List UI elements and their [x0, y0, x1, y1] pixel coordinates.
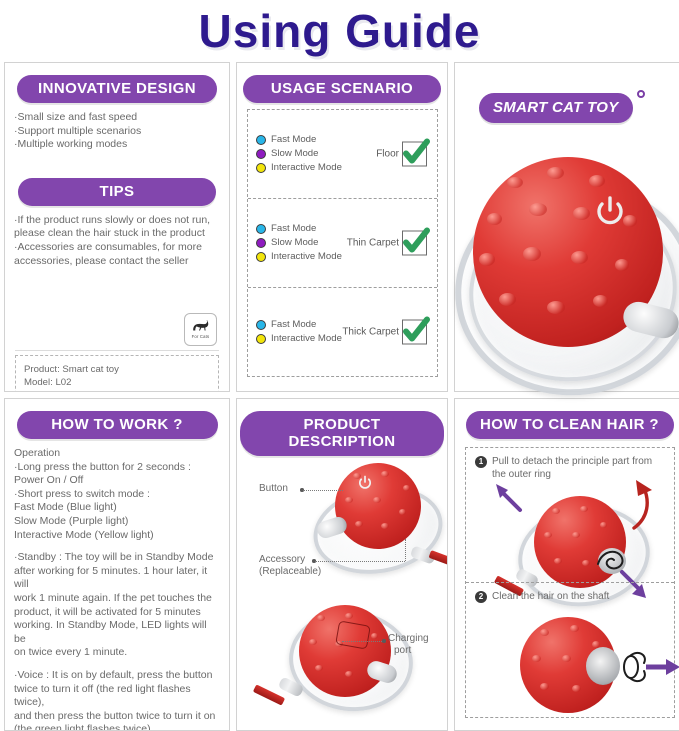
step2-bump	[570, 625, 579, 632]
interactive-mode-dot-icon	[256, 252, 266, 262]
tip-line-2: please clean the hair stuck in the produ…	[14, 227, 220, 241]
voice-line-4: (the green light flashes twice)	[14, 723, 220, 731]
callout-button: Button	[259, 483, 288, 495]
interactive-mode-dot-icon	[256, 334, 266, 344]
panel-innovative-design: INNOVATIVE DESIGN ·Small size and fast s…	[4, 62, 230, 392]
scenario-modes-thin-carpet: Fast Mode Slow Mode Interactive Mode	[256, 222, 342, 264]
spec-material: Material: PC, ABS, Silica gel	[24, 389, 210, 392]
step-number-1: 1	[475, 456, 487, 468]
callout-accessory-line1: Accessory	[259, 554, 305, 566]
mode-label: Interactive Mode	[271, 332, 342, 346]
arrow-curve-right-icon	[624, 476, 664, 539]
specification-box: Product: Smart cat toy Model: L02 Materi…	[15, 355, 219, 392]
callout-charging-leader	[342, 641, 382, 642]
diagram2-bump	[371, 633, 378, 639]
callout-accessory-leader	[315, 561, 405, 562]
diagram-ball	[335, 463, 421, 549]
callout-charging-dot	[382, 639, 386, 643]
scenario-label: Floor	[376, 149, 399, 160]
heading-tips: TIPS	[18, 178, 216, 206]
check-icon	[401, 316, 431, 346]
operation-line-2: ·Long press the button for 2 seconds :	[14, 461, 220, 475]
diagram2-bump	[317, 615, 325, 621]
checkbox-thick-carpet	[402, 320, 427, 345]
operation-line-5: Fast Mode (Blue light)	[14, 501, 220, 515]
diagram2-bump	[309, 639, 317, 645]
diagram2-ball	[299, 605, 391, 697]
panel-product-hero: SMART CAT TOY	[454, 62, 679, 392]
diagram-bump	[373, 497, 381, 503]
check-icon	[401, 227, 431, 257]
mode-fast: Fast Mode	[256, 318, 342, 332]
step2-bump	[540, 629, 549, 636]
bullet-multiple-scenarios: ·Support multiple scenarios	[14, 125, 220, 139]
step1-bump	[600, 522, 607, 528]
for-cats-badge: For Cats	[184, 313, 217, 346]
mode-fast: Fast Mode	[256, 222, 342, 236]
heading-usage-scenario: USAGE SCENARIO	[243, 75, 441, 103]
title-bar: Using Guide	[0, 0, 679, 62]
panel-how-to-work: HOW TO WORK ? Operation ·Long press the …	[4, 398, 230, 731]
callout-accessory-leader-v	[405, 539, 406, 561]
clean-step-2-diagram	[514, 615, 674, 715]
operation-line-3: Power On / Off	[14, 474, 220, 488]
scenario-row-floor: Fast Mode Slow Mode Interactive Mode Flo…	[248, 110, 437, 198]
for-cats-caption: For Cats	[192, 334, 210, 339]
tips-bullets: ·If the product runs slowly or does not …	[5, 214, 229, 268]
cat-icon	[191, 320, 211, 334]
step1-bump	[572, 532, 580, 538]
hero-bump	[479, 253, 495, 266]
mode-label: Interactive Mode	[271, 161, 342, 175]
diagram-power-button-icon	[357, 475, 373, 496]
check-icon	[401, 138, 431, 168]
power-button-icon[interactable]	[593, 195, 627, 234]
step1-bump	[580, 506, 588, 512]
slow-mode-dot-icon	[256, 238, 266, 248]
hero-bump	[573, 207, 590, 220]
scenario-label: Thin Carpet	[347, 238, 399, 249]
hero-bump	[507, 177, 523, 188]
bullet-working-modes: ·Multiple working modes	[14, 138, 220, 152]
scenario-row-thin-carpet: Fast Mode Slow Mode Interactive Mode Thi…	[248, 198, 437, 287]
standby-line-3: work 1 minute again. If the pet touches …	[14, 592, 220, 606]
diagram2-bump	[315, 665, 323, 671]
clean-step-2-head: 2 Clean the hair on the shaft	[475, 590, 665, 603]
standby-line-6: on twice every 1 minute.	[14, 646, 220, 660]
callout-accessory-line2: (Replaceable)	[259, 566, 321, 578]
mode-label: Slow Mode	[271, 147, 318, 161]
mode-slow: Slow Mode	[256, 236, 342, 250]
step-1-line1: Pull to detach the principle part from	[492, 456, 652, 467]
mode-label: Fast Mode	[271, 222, 316, 236]
step2-bump	[532, 655, 541, 662]
voice-line-2: twice to turn it off (the red light flas…	[14, 683, 220, 710]
diagram2-bump	[345, 613, 353, 619]
hero-bump	[593, 295, 608, 307]
scenario-row-thick-carpet: Fast Mode Interactive Mode Thick Carpet	[248, 287, 437, 376]
step-2-text: Clean the hair on the shaft	[492, 590, 609, 603]
clean-hair-steps: 1 Pull to detach the principle part from…	[465, 447, 675, 718]
diagram-accessory-stick	[429, 550, 448, 568]
mode-label: Fast Mode	[271, 133, 316, 147]
mode-interactive: Interactive Mode	[256, 250, 342, 264]
hero-product-image	[447, 155, 679, 393]
fast-mode-dot-icon	[256, 224, 266, 234]
step2-bump	[562, 655, 571, 662]
step2-bump	[540, 683, 549, 690]
arrow-right-icon	[646, 657, 679, 682]
tip-line-3: ·Accessories are consumables, for more	[14, 241, 220, 255]
heading-how-to-clean-hair: HOW TO CLEAN HAIR ?	[466, 411, 674, 439]
standby-line-5: working. In Standby Mode, LED lights wil…	[14, 619, 220, 646]
arrow-up-left-icon	[490, 480, 524, 519]
fast-mode-dot-icon	[256, 320, 266, 330]
hero-bump	[523, 247, 541, 261]
clean-step-2: 2 Clean the hair on the shaft	[466, 582, 674, 717]
mode-interactive: Interactive Mode	[256, 161, 342, 175]
step2-bump	[572, 685, 581, 692]
mode-label: Fast Mode	[271, 318, 316, 332]
mode-label: Slow Mode	[271, 236, 318, 250]
diagram-bump	[355, 521, 363, 527]
hero-bump	[499, 293, 516, 306]
standby-line-4: product, it will be activated for 5 minu…	[14, 606, 220, 620]
innovative-design-bullets: ·Small size and fast speed ·Support mult…	[5, 111, 229, 152]
panel-how-to-clean-hair: HOW TO CLEAN HAIR ? 1 Pull to detach the…	[454, 398, 679, 731]
operation-line-7: Interactive Mode (Yellow light)	[14, 529, 220, 543]
tip-line-1: ·If the product runs slowly or does not …	[14, 214, 220, 228]
callout-charging-line1: Charging	[388, 633, 429, 645]
voice-line-1: ·Voice : It is on by default, press the …	[14, 669, 220, 683]
scenario-result-floor: Floor	[376, 142, 427, 167]
how-to-work-standby: ·Standby : The toy will be in Standby Mo…	[5, 551, 229, 660]
panel-product-description: PRODUCT DESCRIPTION	[236, 398, 448, 731]
operation-line-6: Slow Mode (Purple light)	[14, 515, 220, 529]
scenario-modes-thick-carpet: Fast Mode Interactive Mode	[256, 318, 342, 346]
step1-bump	[552, 508, 560, 514]
checkbox-thin-carpet	[402, 231, 427, 256]
hero-bump	[547, 167, 564, 179]
using-guide-page: Using Guide INNOVATIVE DESIGN ·Small siz…	[0, 0, 679, 729]
diagram-bump	[345, 497, 353, 503]
scenario-result-thick-carpet: Thick Carpet	[342, 320, 427, 345]
operation-line-1: Operation	[14, 447, 220, 461]
hair-swirl-icon	[592, 542, 632, 587]
hero-bump	[529, 203, 547, 216]
fast-mode-dot-icon	[256, 135, 266, 145]
diagram2-bump	[345, 671, 353, 677]
standby-line-2: after working for 5 minutes. 1 hour late…	[14, 565, 220, 592]
callout-charging-line2: port	[394, 645, 411, 657]
heading-innovative-design: INNOVATIVE DESIGN	[17, 75, 217, 103]
panel-grid: INNOVATIVE DESIGN ·Small size and fast s…	[4, 62, 675, 731]
scenario-modes-floor: Fast Mode Slow Mode Interactive Mode	[256, 133, 342, 175]
clean-step-1: 1 Pull to detach the principle part from…	[466, 448, 674, 582]
hero-bump	[487, 213, 502, 225]
bullet-small-size: ·Small size and fast speed	[14, 111, 220, 125]
how-to-work-operation: Operation ·Long press the button for 2 s…	[5, 447, 229, 542]
how-to-work-voice: ·Voice : It is on by default, press the …	[5, 669, 229, 731]
callout-button-leader	[303, 490, 343, 491]
mode-fast: Fast Mode	[256, 133, 342, 147]
mode-label: Interactive Mode	[271, 250, 342, 264]
diagram-bump	[381, 523, 389, 529]
scenario-result-thin-carpet: Thin Carpet	[347, 231, 427, 256]
degree-circle-icon	[637, 90, 645, 98]
slow-mode-dot-icon	[256, 149, 266, 159]
hero-bump	[571, 251, 588, 264]
spec-model: Model: L02	[24, 376, 210, 389]
diagram-bump	[381, 471, 389, 477]
hero-bump	[547, 301, 565, 314]
step-1-line2: the outer ring	[492, 469, 551, 480]
page-title: Using Guide	[199, 8, 481, 54]
heading-product-description: PRODUCT DESCRIPTION	[240, 411, 444, 456]
step1-bump	[544, 532, 552, 538]
panel-usage-scenario: USAGE SCENARIO Fast Mode Slow Mode	[236, 62, 448, 392]
spec-divider	[15, 350, 219, 351]
diagram-bump	[399, 509, 406, 515]
interactive-mode-dot-icon	[256, 163, 266, 173]
step-number-2: 2	[475, 591, 487, 603]
mode-slow: Slow Mode	[256, 147, 342, 161]
checkbox-floor	[402, 142, 427, 167]
diagram-bump	[403, 485, 410, 491]
smart-cat-toy-label: SMART CAT TOY	[479, 93, 633, 123]
operation-line-4: ·Short press to switch mode :	[14, 488, 220, 502]
hero-bump	[615, 259, 629, 271]
standby-line-1: ·Standby : The toy will be in Standby Mo…	[14, 551, 220, 565]
step2-shaft-disc	[586, 647, 620, 685]
step1-bump	[582, 560, 590, 566]
spec-product: Product: Smart cat toy	[24, 363, 210, 376]
step1-bump	[554, 558, 562, 564]
heading-how-to-work: HOW TO WORK ?	[17, 411, 218, 439]
mode-interactive: Interactive Mode	[256, 332, 342, 346]
hero-bump	[589, 175, 605, 187]
tip-line-4: accessories, please contact the seller	[14, 255, 220, 269]
usage-scenario-table: Fast Mode Slow Mode Interactive Mode Flo…	[247, 109, 438, 377]
scenario-label: Thick Carpet	[342, 327, 399, 338]
smart-cat-toy-badge: SMART CAT TOY	[479, 93, 633, 123]
voice-line-3: and then press the button twice to turn …	[14, 710, 220, 724]
diagram-product-top	[311, 457, 446, 577]
